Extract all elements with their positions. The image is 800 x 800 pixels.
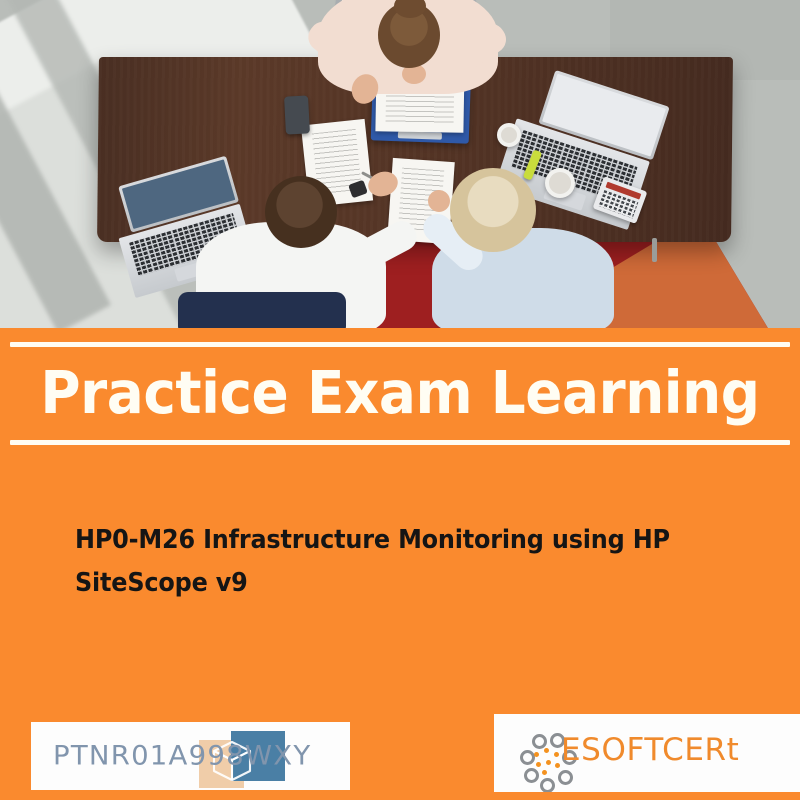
coffee-cup-bottom	[545, 168, 575, 198]
poster: Practice Exam Learning HP0-M26 Infrastru…	[0, 0, 800, 800]
coffee-cup-top	[497, 123, 521, 147]
dot	[534, 752, 539, 757]
dot	[546, 760, 551, 765]
banner-rule-bottom	[10, 440, 790, 445]
header-photo	[0, 0, 800, 328]
person-right-head	[450, 168, 536, 252]
ring	[540, 778, 555, 792]
partner-logo[interactable]: PTNR01A998WXY	[31, 722, 350, 790]
ring	[524, 768, 539, 783]
smartphone	[284, 95, 310, 134]
esoftcert-logo[interactable]: ESOFTCERt	[494, 714, 800, 792]
ring	[532, 734, 547, 749]
dot	[555, 763, 560, 768]
page-title: Practice Exam Learning	[28, 354, 772, 432]
dot	[542, 770, 547, 775]
person-right-hand	[428, 190, 450, 212]
dot	[536, 762, 541, 767]
table-leg-right	[652, 238, 657, 262]
clipboard-clip	[398, 131, 441, 140]
ring	[558, 770, 573, 785]
esoftcert-logo-text: ESOFTCERt	[561, 732, 739, 768]
dot	[554, 752, 559, 757]
banner-rule-top	[10, 342, 790, 347]
person-left-head	[265, 176, 337, 248]
partner-logo-text: PTNR01A998WXY	[53, 741, 311, 772]
title-banner: Practice Exam Learning	[0, 328, 800, 452]
dot	[544, 748, 549, 753]
person-left-chair-back	[178, 292, 346, 328]
exam-subtitle: HP0-M26 Infrastructure Monitoring using …	[75, 519, 693, 605]
ring	[520, 750, 535, 765]
